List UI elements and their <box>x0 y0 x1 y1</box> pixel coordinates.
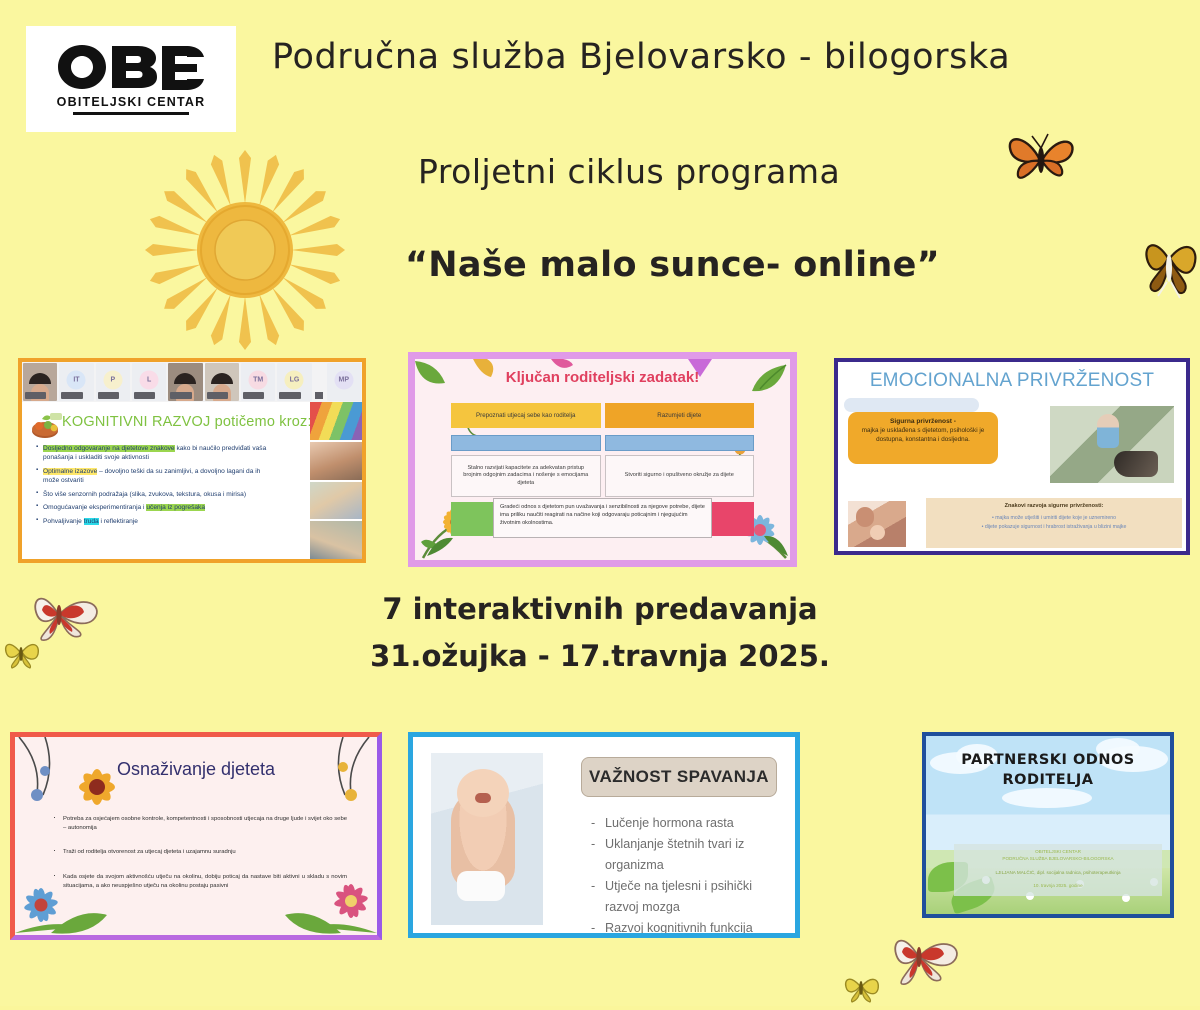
kljucan-roditeljski-zadatak-slide: Ključan roditeljski zadatak! Prepoznati … <box>408 352 797 567</box>
slide1-bullet-list: Dosljedno odgovaranje na djetetove znako… <box>36 444 271 530</box>
list-item: Optimalne izazove – dovoljno teški da su… <box>36 467 271 485</box>
list-item: Lučenje hormona rasta <box>589 813 787 834</box>
participant-tile <box>23 363 57 401</box>
list-item: Utječe na tjelesni i psihički razvoj moz… <box>589 876 787 918</box>
list-item: Kada osjete da svojom aktivnošću utječu … <box>53 873 347 891</box>
band-right-label: Razumjeti dijete <box>605 403 755 428</box>
participant-tile-small <box>314 363 325 401</box>
cycle-heading: Proljetni ciklus programa <box>418 152 840 191</box>
signs-heading: Znakovi razvoja sigurne privrženosti: <box>932 503 1176 509</box>
lectures-count-text: 7 interaktivnih predavanja <box>0 592 1200 626</box>
participant-tile: MP <box>327 363 361 401</box>
sun-illustration <box>135 140 355 360</box>
band-left-label: Prepoznati utjecaj sebe kao roditelja <box>451 403 601 428</box>
participant-tile <box>168 363 202 401</box>
cloud-shape <box>1002 788 1092 808</box>
slide2-blue-bars <box>451 435 754 451</box>
white-box-left: Stalno razvijati kapacitete za adekvatan… <box>451 455 601 497</box>
logo-subtitle: OBITELJSKI CENTAR <box>57 95 206 109</box>
participant-tile: IT <box>59 363 93 401</box>
list-item: Razvoj kognitivnih funkcija <box>589 918 787 938</box>
slide2-top-band: Prepoznati utjecaj sebe kao roditelja Ra… <box>451 403 754 428</box>
participant-tile: LG <box>277 363 311 401</box>
obiteljski-centar-logo: OBITELJSKI CENTAR <box>26 26 236 132</box>
participant-tile <box>205 363 239 401</box>
slide2-body: Ključan roditeljski zadatak! Prepoznati … <box>415 359 790 560</box>
credit-presenter: LJILJANA MALČIĆ, dipl. socijalna radnica… <box>956 869 1160 876</box>
slide1-photo-thumbnails <box>310 402 362 559</box>
credit-date: 10. travnja 2025. godine <box>956 882 1160 889</box>
slide3-title: EMOCIONALNA PRIVRŽENOST <box>838 370 1186 392</box>
obc-logo-mark-icon <box>56 43 206 91</box>
signs-item: • majka može utješiti i umiriti dijete k… <box>932 514 1176 523</box>
butterfly-yellow-small-left <box>2 636 42 676</box>
slide4-bullet-list: Potreba za osjećajem osobne kontrole, ko… <box>53 815 347 906</box>
participant-initials: TM <box>249 371 268 390</box>
poster-canvas: OBITELJSKI CENTAR <box>0 0 1200 1006</box>
participant-tile: P <box>96 363 130 401</box>
slide1-body: KOGNITIVNI RAZVOJ potičemo kroz: Dosljed… <box>22 402 362 559</box>
list-item: Uklanjanje štetnih tvari iz organizma <box>589 834 787 876</box>
participant-initials: MP <box>334 371 353 390</box>
attachment-signs-box: Znakovi razvoja sigurne privrženosti: • … <box>926 498 1182 548</box>
slide2-white-boxes: Stalno razvijati kapacitete za adekvatan… <box>451 455 754 497</box>
signs-item: • dijete pokazuje sigurnost i hrabrost i… <box>932 523 1176 532</box>
blue-bar-left <box>451 435 601 451</box>
list-item: Dosljedno odgovaranje na djetetove znako… <box>36 444 271 462</box>
secure-attachment-card: Sigurna privrženost - majka je usklađena… <box>848 412 998 464</box>
background-wash <box>844 398 979 412</box>
slide2-note-box: Gradeći odnos s djetetom pun uvažavanja … <box>493 498 712 538</box>
vegetables-illustration-icon <box>30 410 64 440</box>
blue-bar-right <box>605 435 755 451</box>
emocionalna-privrzenost-slide: EMOCIONALNA PRIVRŽENOST Sigurna privržen… <box>834 358 1190 555</box>
slide6-credit-block: OBITELJSKI CENTAR PODRUČNA SLUŽBA BJELOV… <box>954 844 1162 896</box>
white-box-right: Stvoriti sigurno i opuštveno okružje za … <box>605 455 755 497</box>
floor-play-photo <box>310 521 362 559</box>
partnerski-odnos-roditelja-slide: PARTNERSKI ODNOS RODITELJA OBITELJSKI CE… <box>922 732 1174 918</box>
card-text: majka je usklađena s djetetom, psihološk… <box>862 427 985 443</box>
baby-photo <box>431 753 543 925</box>
credit-org: OBITELJSKI CENTAR <box>956 848 1160 855</box>
osnazivanje-djeteta-slide: Osnaživanje djeteta Potreba za osjećajem… <box>10 732 382 940</box>
participant-initials: LG <box>285 371 304 390</box>
list-item: Pohvaljivanje truda i reflektiranje <box>36 517 271 526</box>
butterfly-golden-right <box>1140 222 1200 306</box>
play-photo <box>310 482 362 520</box>
logo-underline <box>73 112 189 115</box>
slide4-title: Osnaživanje djeteta <box>15 759 377 780</box>
list-item: Traži od roditelja otvorenost za utjecaj… <box>53 848 347 857</box>
credit-branch: PODRUČNA SLUŽBA BJELOVARSKO-BILOGORSKA <box>956 855 1160 862</box>
slide6-title: PARTNERSKI ODNOS RODITELJA <box>926 750 1170 790</box>
participant-initials: IT <box>67 371 86 390</box>
participant-tile: TM <box>241 363 275 401</box>
butterfly-orange-top-right <box>1004 130 1080 196</box>
butterfly-red-white-bottom <box>884 930 968 992</box>
list-item: Omogućavanje eksperimentiranja i učenja … <box>36 503 271 512</box>
date-range-text: 31.ožujka - 17.travnja 2025. <box>0 639 1200 673</box>
participant-initials: L <box>140 371 159 390</box>
mother-child-photo <box>310 442 362 480</box>
slide1-title: KOGNITIVNI RAZVOJ potičemo kroz: <box>62 414 312 430</box>
slide5-title: VAŽNOST SPAVANJA <box>581 757 777 797</box>
card-heading: Sigurna privrženost - <box>890 418 956 425</box>
video-participant-strip: IT P L TM LG <box>22 362 362 402</box>
list-item: Što više senzornih podražaja (slika, zvu… <box>36 490 271 499</box>
butterfly-yellow-small-bottom <box>842 972 882 1010</box>
rainbow-toy-photo <box>310 402 362 440</box>
list-item: Potreba za osjećajem osobne kontrole, ko… <box>53 815 347 833</box>
father-child-photo <box>1050 406 1174 483</box>
slide5-bullet-list: Lučenje hormona rasta Uklanjanje štetnih… <box>589 813 787 938</box>
program-title: “Naše malo sunce- online” <box>405 245 940 285</box>
vaznost-spavanja-slide: VAŽNOST SPAVANJA Lučenje hormona rasta U… <box>408 732 800 938</box>
slide6-title-line1: PARTNERSKI ODNOS <box>961 752 1135 768</box>
organization-heading: Područna služba Bjelovarsko - bilogorska <box>272 37 1010 77</box>
mother-baby-photo <box>848 501 906 547</box>
participant-tile: L <box>132 363 166 401</box>
slide2-title: Ključan roditeljski zadatak! <box>415 369 790 386</box>
participant-initials: P <box>103 371 122 390</box>
slide6-title-line2: RODITELJA <box>1002 772 1093 788</box>
kognitivni-razvoj-slide: IT P L TM LG <box>18 358 366 563</box>
